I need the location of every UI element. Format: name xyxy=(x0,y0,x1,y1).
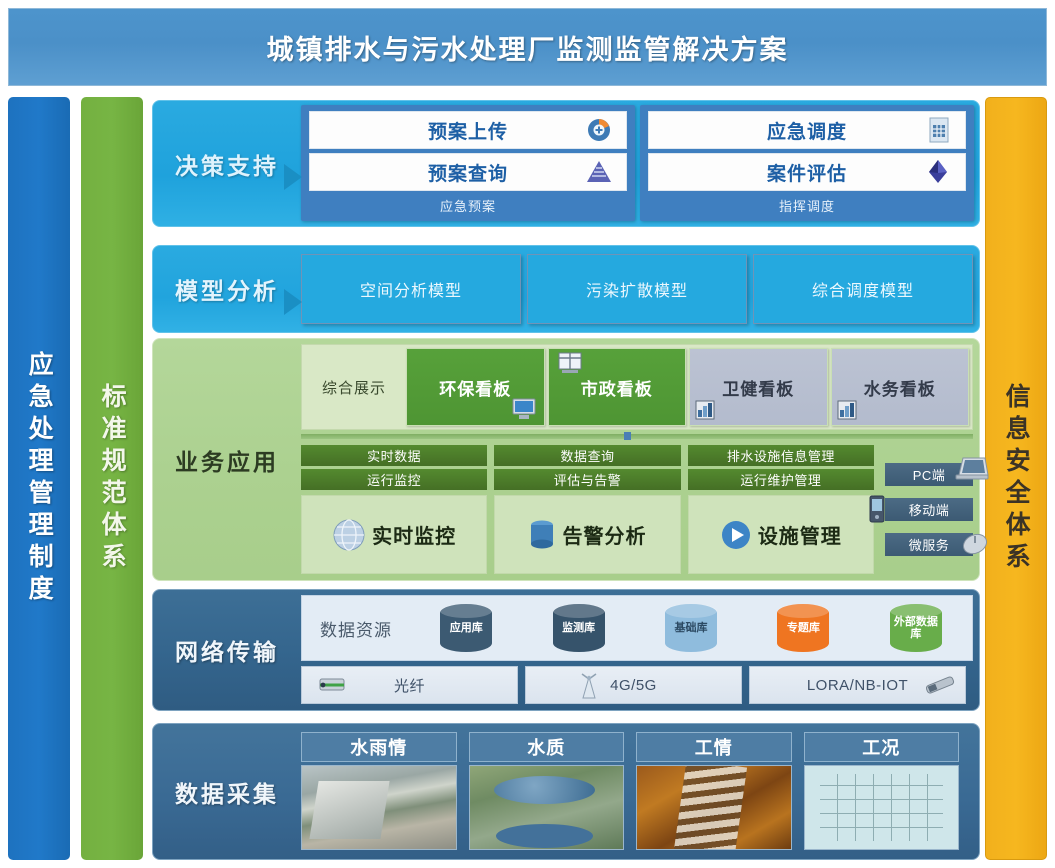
layer-data-acquisition-title: 数据采集 xyxy=(175,775,279,809)
database-external-label: 外部数据库 xyxy=(890,616,942,640)
model-box-pollution[interactable]: 污染扩散模型 xyxy=(527,254,747,324)
biz-tag-realtime-data[interactable]: 实时数据 xyxy=(301,445,487,466)
data-card-project-status-photo xyxy=(636,765,792,850)
layer-network-transport-title: 网络传输 xyxy=(175,633,279,667)
network-link-4g5g[interactable]: 4G/5G xyxy=(525,666,742,704)
database-thematic[interactable]: 专题库 xyxy=(777,604,829,652)
pillar-information-security-label: 信息安全体系 xyxy=(1003,383,1029,575)
business-card-facility-management[interactable]: 设施管理 xyxy=(688,495,874,574)
tree-icon xyxy=(925,159,951,185)
data-card-rainfall[interactable]: 水雨情 xyxy=(301,732,457,850)
database-monitoring-label: 监测库 xyxy=(562,622,595,634)
fiber-icon xyxy=(316,675,348,695)
network-link-4g5g-label: 4G/5G xyxy=(610,677,657,694)
model-boxes: 空间分析模型 污染扩散模型 综合调度模型 xyxy=(301,246,979,332)
database-app[interactable]: 应用库 xyxy=(440,604,492,652)
arrow-icon xyxy=(284,289,302,315)
database-monitoring-wrap: 监测库 xyxy=(522,604,634,652)
lifebuoy-icon xyxy=(586,117,612,143)
biz-tag-operation-maintenance[interactable]: 运行维护管理 xyxy=(688,469,874,490)
layer-business-application: 业务应用 综合展示 环保看板 市政看板 xyxy=(152,338,980,581)
comprehensive-display-label: 综合展示 xyxy=(302,345,406,429)
decision-item-plan-query-label: 预案查询 xyxy=(428,159,508,186)
network-link-lora[interactable]: LORA/NB-IOT xyxy=(749,666,966,704)
page-title: 城镇排水与污水处理厂监测监管解决方案 xyxy=(267,28,789,67)
data-card-project-status-title: 工情 xyxy=(636,732,792,762)
mouse-icon xyxy=(959,529,991,557)
laptop-icon xyxy=(955,456,989,482)
comprehensive-display-row: 综合展示 环保看板 市政看板 xyxy=(301,344,973,430)
data-card-water-quality-title: 水质 xyxy=(469,732,625,762)
kanban-environment[interactable]: 环保看板 xyxy=(406,348,545,426)
business-card-alarm-analysis-label: 告警分析 xyxy=(562,520,646,549)
network-content: 数据资源 应用库 监测库 基础库 xyxy=(301,590,979,710)
architecture-diagram: 城镇排水与污水处理厂监测监管解决方案 应急处理管理制度 标准规范体系 信息安全体… xyxy=(0,0,1055,868)
decision-item-plan-upload[interactable]: 预案上传 xyxy=(309,111,627,149)
business-card-realtime-monitoring-label: 实时监控 xyxy=(372,520,456,549)
business-columns: 实时数据 运行监控 实时监控 数据查询 xyxy=(301,445,973,574)
database-thematic-wrap: 专题库 xyxy=(747,604,859,652)
kanban-health[interactable]: 卫健看板 xyxy=(689,348,828,426)
business-column-alarm: 数据查询 评估与告警 告警分析 xyxy=(494,445,680,574)
layer-business-application-title: 业务应用 xyxy=(175,443,279,477)
database-basic-label: 基础库 xyxy=(675,622,708,634)
antenna-icon xyxy=(578,670,600,700)
sensor-icon xyxy=(923,673,957,697)
biz-tag-drainage-facility-info[interactable]: 排水设施信息管理 xyxy=(688,445,874,466)
chart-icon xyxy=(695,400,715,420)
decision-group-emergency-plan: 预案上传 预案查询 xyxy=(301,105,635,221)
client-pc-label: PC端 xyxy=(913,465,946,484)
arrow-icon xyxy=(284,164,302,190)
network-link-fiber[interactable]: 光纤 xyxy=(301,666,518,704)
database-app-label: 应用库 xyxy=(450,622,483,634)
network-link-lora-label: LORA/NB-IOT xyxy=(807,677,908,694)
data-card-rainfall-photo xyxy=(301,765,457,850)
kanban-water-affairs[interactable]: 水务看板 xyxy=(831,348,970,426)
client-pc[interactable]: PC端 xyxy=(885,463,973,486)
database-external-wrap: 外部数据库 xyxy=(860,604,972,652)
layer-network-transport: 网络传输 数据资源 应用库 监测库 基础库 xyxy=(152,589,980,711)
client-microservice-label: 微服务 xyxy=(909,535,950,554)
decision-group-command-dispatch-caption: 指挥调度 xyxy=(648,195,966,217)
database-monitoring[interactable]: 监测库 xyxy=(553,604,605,652)
decision-groups: 预案上传 预案查询 xyxy=(301,101,979,226)
decision-item-plan-query[interactable]: 预案查询 xyxy=(309,153,627,191)
data-card-operating-condition-photo xyxy=(804,765,960,850)
biz-tag-data-query[interactable]: 数据查询 xyxy=(494,445,680,466)
client-mobile[interactable]: 移动端 xyxy=(885,498,973,521)
decision-group-emergency-plan-caption: 应急预案 xyxy=(309,195,627,217)
play-icon xyxy=(720,519,752,551)
layer-decision-support: 决策支持 预案上传 预案查询 xyxy=(152,100,980,227)
network-links: 光纤 4G/5G LORA/NB-IOT xyxy=(301,666,973,704)
globe-icon xyxy=(332,518,366,552)
database-app-wrap: 应用库 xyxy=(410,604,522,652)
decision-item-case-evaluation-label: 案件评估 xyxy=(767,159,847,186)
database-basic[interactable]: 基础库 xyxy=(665,604,717,652)
network-link-fiber-label: 光纤 xyxy=(394,675,425,696)
data-card-water-quality[interactable]: 水质 xyxy=(469,732,625,850)
data-card-rainfall-title: 水雨情 xyxy=(301,732,457,762)
pillar-information-security: 信息安全体系 xyxy=(985,97,1047,860)
business-column-monitoring: 实时数据 运行监控 实时监控 xyxy=(301,445,487,574)
spreadsheet-icon xyxy=(927,117,951,143)
kanban-municipal[interactable]: 市政看板 xyxy=(548,348,687,426)
data-card-project-status[interactable]: 工情 xyxy=(636,732,792,850)
database-icon xyxy=(528,519,556,551)
decision-item-emergency-dispatch[interactable]: 应急调度 xyxy=(648,111,966,149)
pillar-emergency-management-label: 应急处理管理制度 xyxy=(26,351,52,607)
pillar-standards-system: 标准规范体系 xyxy=(81,97,143,860)
pillar-emergency-management: 应急处理管理制度 xyxy=(8,97,70,860)
client-microservice[interactable]: 微服务 xyxy=(885,533,973,556)
layer-network-transport-label: 网络传输 xyxy=(153,590,301,710)
data-resources-row: 数据资源 应用库 监测库 基础库 xyxy=(301,595,973,661)
database-external[interactable]: 外部数据库 xyxy=(890,604,942,652)
phone-icon xyxy=(869,495,885,523)
client-endpoints: PC端 移动端 xyxy=(881,445,973,574)
pyramid-icon xyxy=(586,160,612,184)
kanban-municipal-label: 市政看板 xyxy=(581,375,653,400)
decision-item-plan-upload-label: 预案上传 xyxy=(428,117,508,144)
window-icon xyxy=(557,352,583,374)
business-divider xyxy=(301,434,973,439)
layer-decision-support-title: 决策支持 xyxy=(175,147,279,181)
business-card-realtime-monitoring[interactable]: 实时监控 xyxy=(301,495,487,574)
layer-decision-support-label: 决策支持 xyxy=(153,101,301,226)
pillar-standards-system-label: 标准规范体系 xyxy=(99,383,125,575)
data-acquisition-cards: 水雨情 水质 工情 工况 xyxy=(301,724,979,859)
model-box-spatial[interactable]: 空间分析模型 xyxy=(301,254,521,324)
layer-data-acquisition-label: 数据采集 xyxy=(153,724,301,859)
business-column-facility: 排水设施信息管理 运行维护管理 设施管理 xyxy=(688,445,874,574)
layer-model-analysis-title: 模型分析 xyxy=(175,272,279,306)
biz-tag-operation-monitoring[interactable]: 运行监控 xyxy=(301,469,487,490)
model-box-dispatch[interactable]: 综合调度模型 xyxy=(753,254,973,324)
data-card-operating-condition[interactable]: 工况 xyxy=(804,732,960,850)
decision-item-case-evaluation[interactable]: 案件评估 xyxy=(648,153,966,191)
decision-item-emergency-dispatch-label: 应急调度 xyxy=(767,117,847,144)
business-card-facility-management-label: 设施管理 xyxy=(758,520,842,549)
layer-business-application-label: 业务应用 xyxy=(153,339,301,580)
chart-icon xyxy=(837,400,857,420)
monitor-icon xyxy=(511,397,537,421)
layer-data-acquisition: 数据采集 水雨情 水质 工情 工况 xyxy=(152,723,980,860)
kanban-health-label: 卫健看板 xyxy=(722,375,794,400)
database-thematic-label: 专题库 xyxy=(787,622,820,634)
layer-model-analysis-label: 模型分析 xyxy=(153,246,301,332)
layer-model-analysis: 模型分析 空间分析模型 污染扩散模型 综合调度模型 xyxy=(152,245,980,333)
decision-group-command-dispatch: 应急调度 案件评估 xyxy=(640,105,974,221)
database-basic-wrap: 基础库 xyxy=(635,604,747,652)
business-content: 综合展示 环保看板 市政看板 xyxy=(301,339,979,580)
data-card-water-quality-photo xyxy=(469,765,625,850)
kanban-water-affairs-label: 水务看板 xyxy=(864,375,936,400)
business-card-alarm-analysis[interactable]: 告警分析 xyxy=(494,495,680,574)
data-card-operating-condition-title: 工况 xyxy=(804,732,960,762)
page-title-bar: 城镇排水与污水处理厂监测监管解决方案 xyxy=(8,8,1047,86)
data-resources-label: 数据资源 xyxy=(302,616,410,641)
kanban-environment-label: 环保看板 xyxy=(439,375,511,400)
client-mobile-label: 移动端 xyxy=(909,500,950,519)
biz-tag-assessment-alarm[interactable]: 评估与告警 xyxy=(494,469,680,490)
